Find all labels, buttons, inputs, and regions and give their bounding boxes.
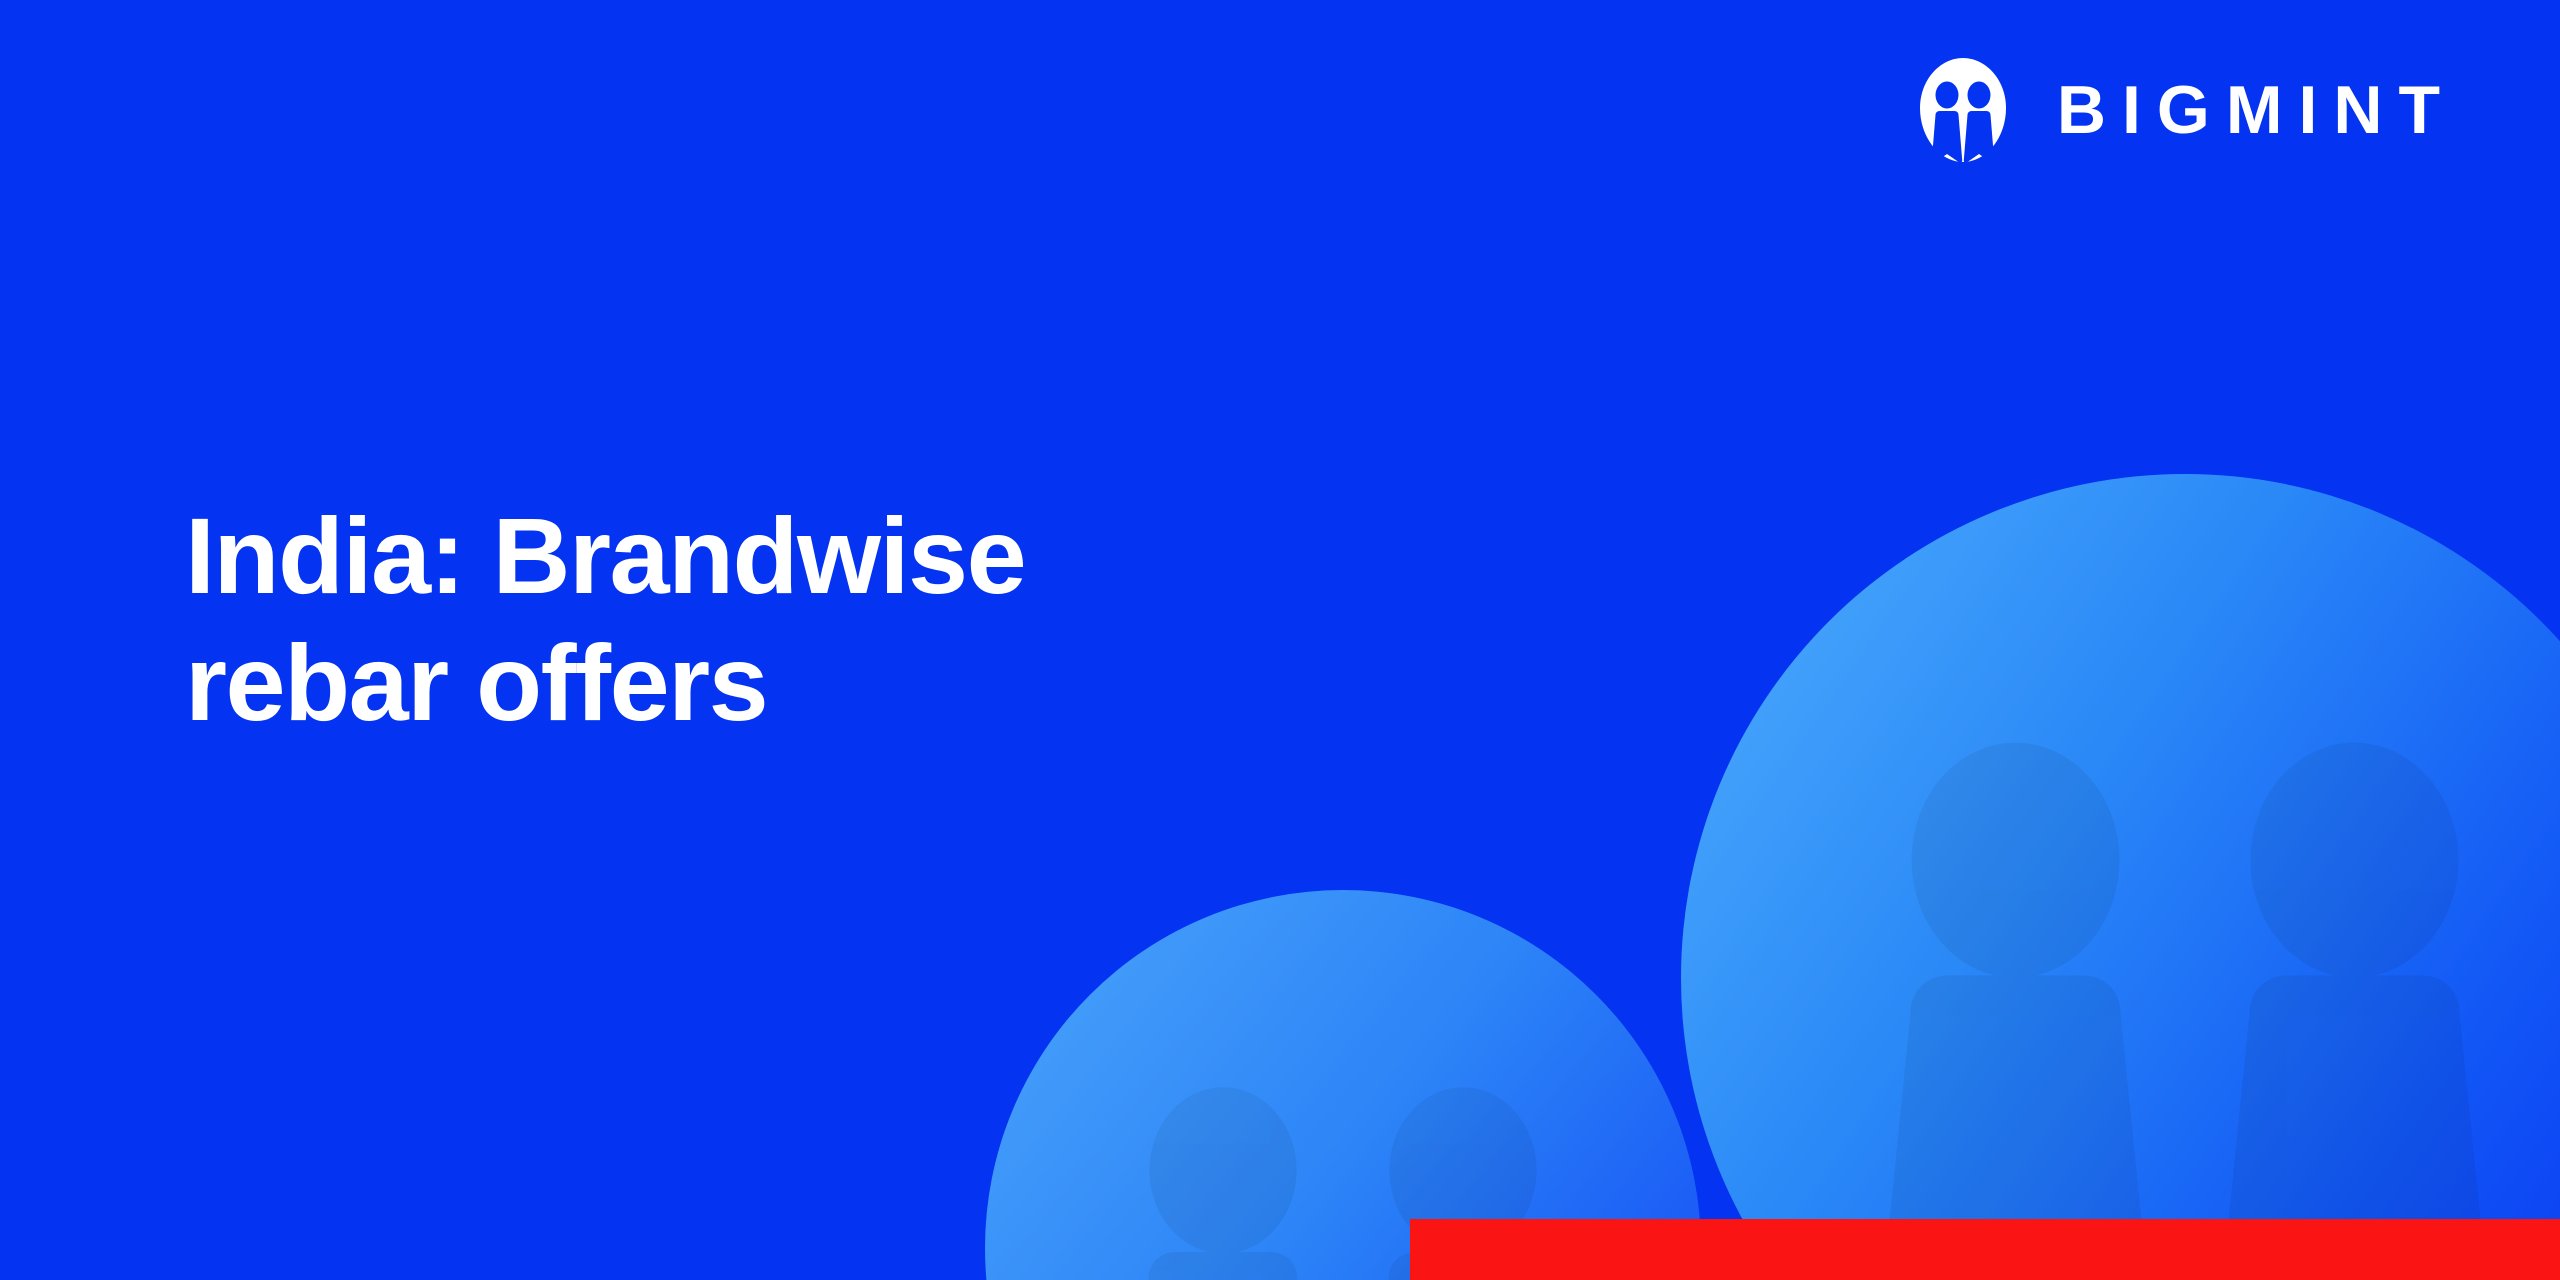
large-gradient-sphere bbox=[1681, 474, 2560, 1280]
headline-line-1: India: Brandwise bbox=[185, 492, 1025, 619]
headline-title: India: Brandwise rebar offers bbox=[185, 492, 1025, 747]
headline-line-2: rebar offers bbox=[185, 619, 1025, 746]
bigmint-logo-mark-icon bbox=[1917, 56, 2009, 164]
banner-canvas: BIGMINT India: Brandwise rebar offers bbox=[0, 0, 2560, 1280]
brand-wordmark: BIGMINT bbox=[2055, 76, 2456, 144]
red-accent-bar bbox=[1410, 1219, 2560, 1280]
brand-lockup: BIGMINT bbox=[1917, 56, 2456, 164]
large-sphere-figure-motif-icon bbox=[1871, 743, 2500, 1280]
